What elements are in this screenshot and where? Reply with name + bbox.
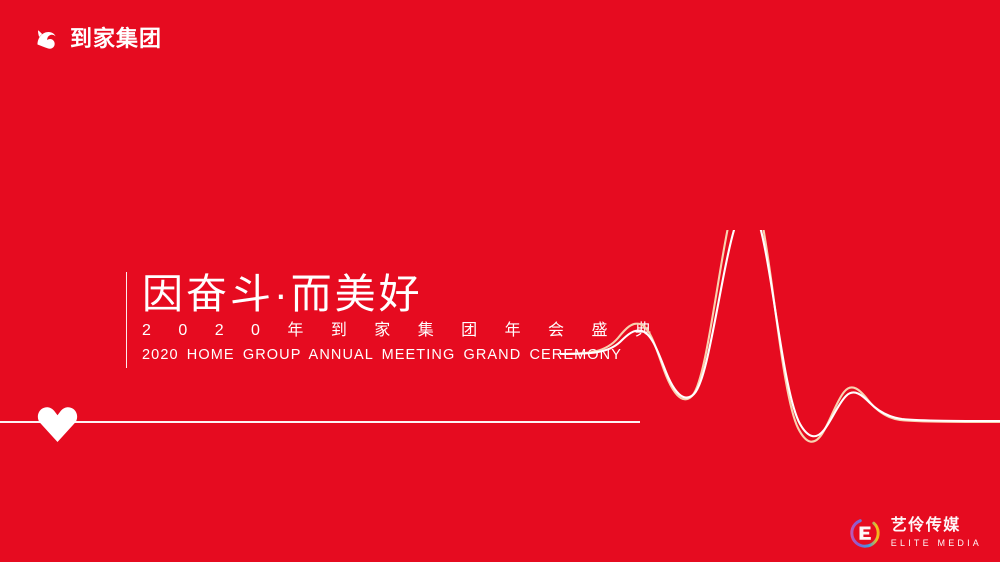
baseline-rule	[0, 421, 640, 423]
watermark-name-en: ELITE MEDIA	[891, 539, 982, 548]
watermark-name-cn: 艺伶传媒	[891, 518, 982, 534]
brand-logo: 到家集团	[32, 22, 162, 56]
brand-name: 到家集团	[70, 28, 162, 50]
heart-icon	[37, 402, 78, 443]
vertical-rule	[126, 272, 127, 368]
elite-media-logo-icon	[848, 516, 882, 550]
watermark: 艺伶传媒 ELITE MEDIA	[848, 516, 982, 550]
ecg-waveform	[560, 230, 1000, 520]
swan-icon	[32, 24, 62, 54]
slide-canvas: 到家集团 因奋斗·而美好 2 0 2 0 年 到 家 集 团 年 会 盛 典 2…	[0, 0, 1000, 562]
watermark-text: 艺伶传媒 ELITE MEDIA	[891, 518, 982, 548]
